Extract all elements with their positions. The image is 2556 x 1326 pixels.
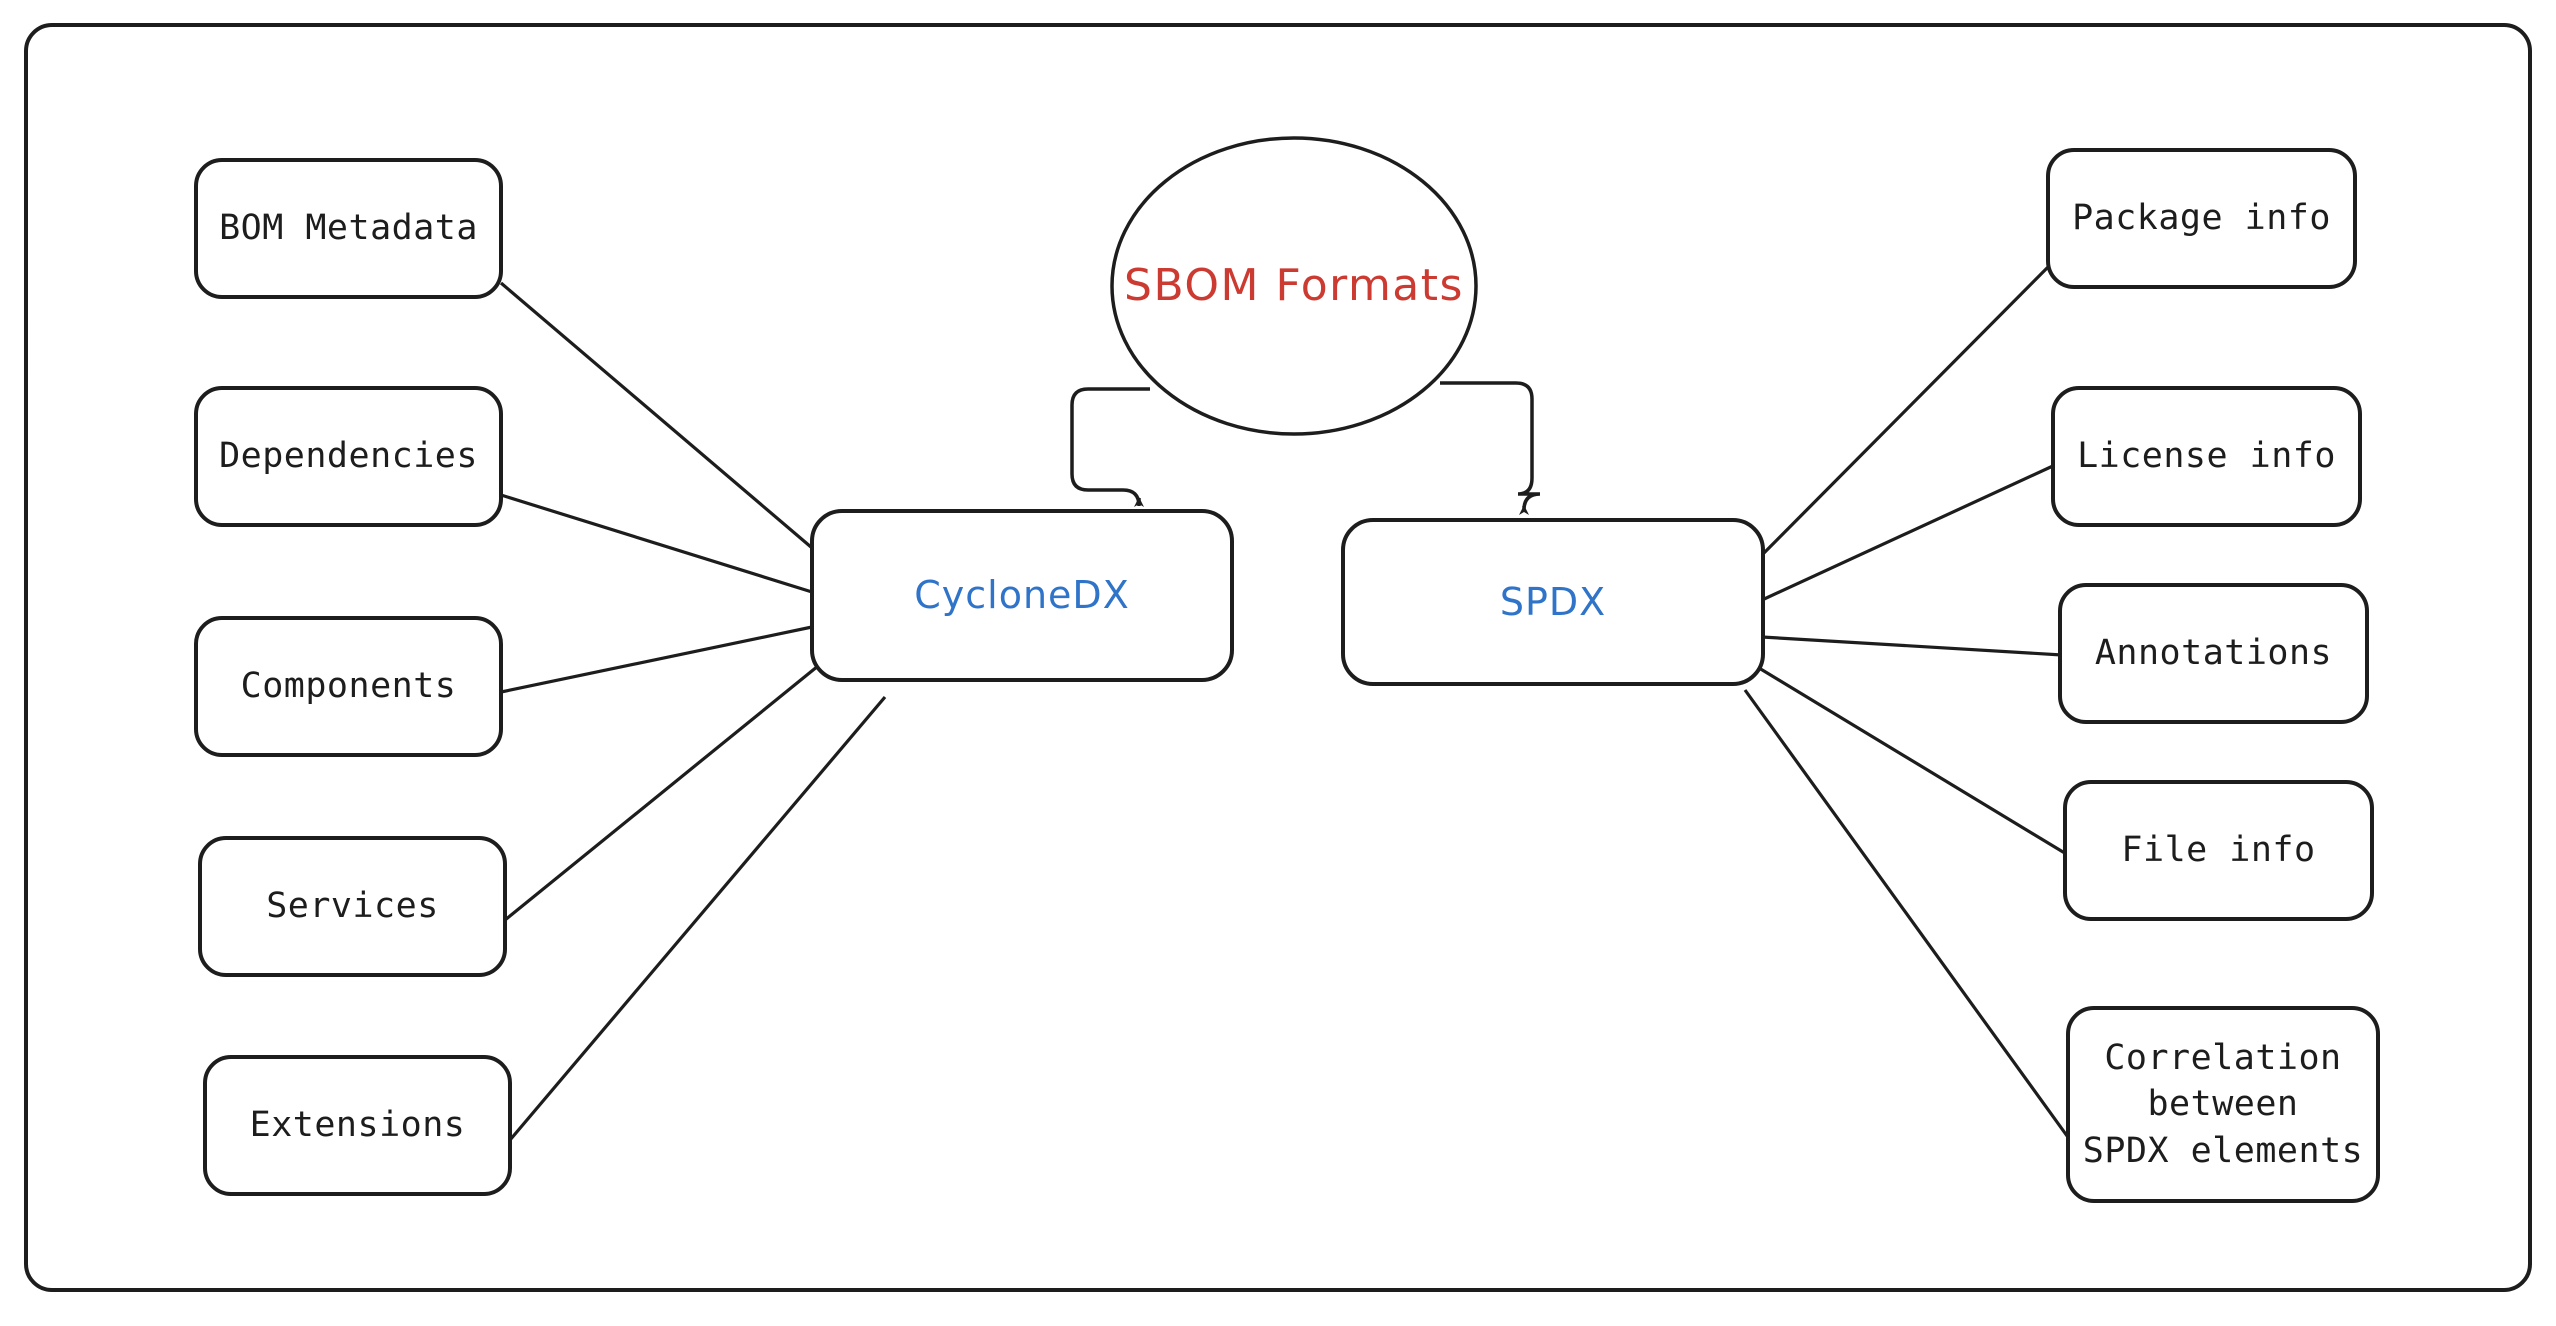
connector-spdx-license-info bbox=[1762, 465, 2055, 600]
connector-spdx-file-info bbox=[1759, 668, 2068, 855]
node-box-spdx[interactable] bbox=[1343, 520, 1763, 684]
node-box-package-info[interactable] bbox=[2048, 150, 2355, 287]
node-box-components[interactable] bbox=[196, 618, 501, 755]
node-box-correlation[interactable] bbox=[2068, 1008, 2378, 1201]
root-node-ellipse[interactable] bbox=[1112, 138, 1476, 434]
connector-cyclonedx-components bbox=[501, 627, 812, 692]
node-box-extensions[interactable] bbox=[205, 1057, 510, 1194]
node-box-cyclonedx[interactable] bbox=[812, 511, 1232, 680]
diagram-canvas: SBOM Formats CycloneDX SPDX BOM Metadata… bbox=[0, 0, 2556, 1326]
node-box-dependencies[interactable] bbox=[196, 388, 501, 525]
node-box-bom-metadata[interactable] bbox=[196, 160, 501, 297]
connector-spdx-annotations bbox=[1762, 637, 2062, 655]
node-box-annotations[interactable] bbox=[2060, 585, 2367, 722]
connector-spdx-package-info bbox=[1757, 260, 2055, 560]
diagram-graphics bbox=[0, 0, 2556, 1326]
connector-cyclonedx-services bbox=[505, 666, 818, 920]
connector-cyclonedx-bom-metadata bbox=[501, 283, 818, 553]
connector-root-to-spdx bbox=[1440, 383, 1540, 510]
node-box-file-info[interactable] bbox=[2065, 782, 2372, 919]
node-box-services[interactable] bbox=[200, 838, 505, 975]
connector-root-to-cyclonedx bbox=[1072, 389, 1150, 506]
node-box-license-info[interactable] bbox=[2053, 388, 2360, 525]
